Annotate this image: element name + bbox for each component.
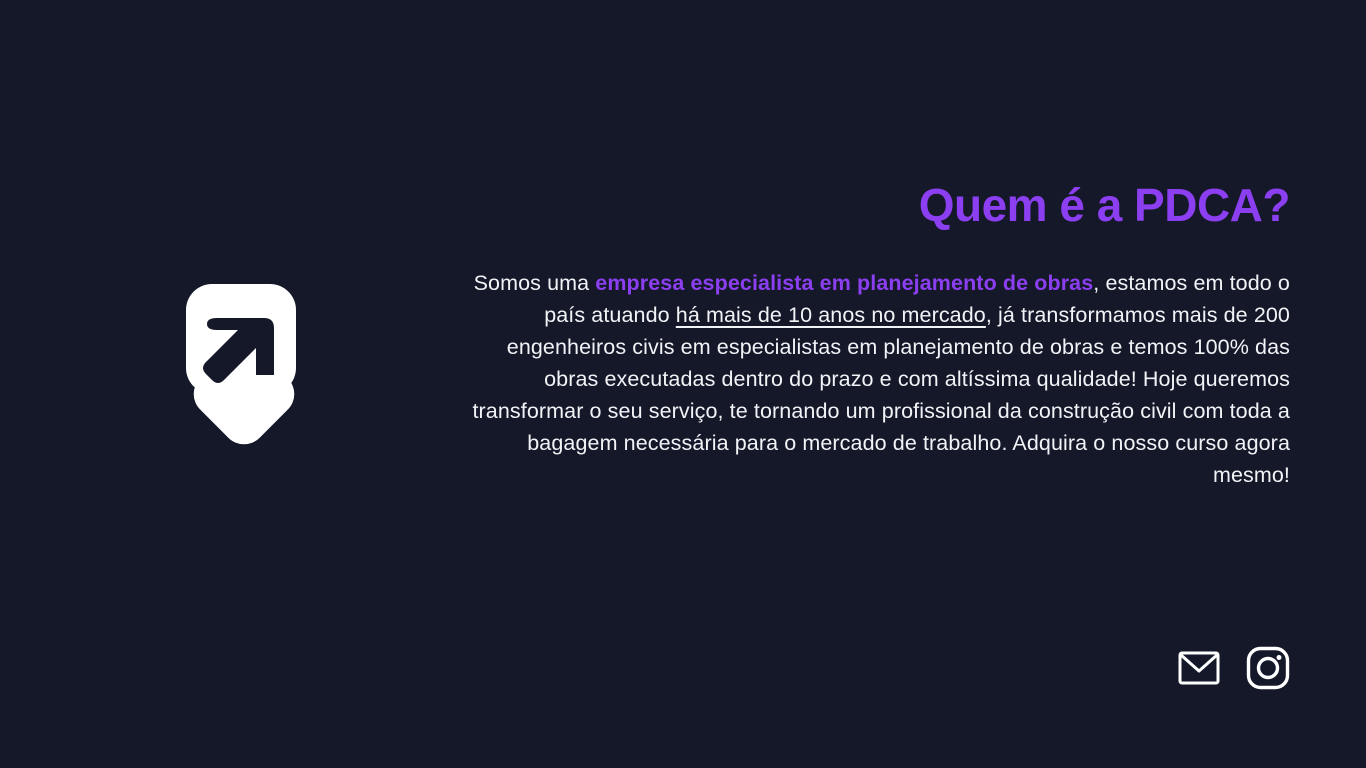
instagram-icon[interactable] [1246,646,1290,690]
page-title: Quem é a PDCA? [448,180,1290,231]
body-highlight-specialist: empresa especialista em planejamento de … [595,271,1093,295]
pdca-logo [178,262,308,452]
slide-root: Quem é a PDCA? Somos uma empresa especia… [0,0,1366,768]
body-underline-years: há mais de 10 anos no mercado [676,303,986,327]
email-icon[interactable] [1178,651,1220,685]
body-text-part-1: Somos uma [474,271,596,295]
social-links [1178,646,1290,690]
body-paragraph: Somos uma empresa especialista em planej… [448,267,1290,491]
body-text-part-3: , já transformamos mais de 200 engenheir… [472,303,1290,487]
content-column: Quem é a PDCA? Somos uma empresa especia… [448,180,1290,491]
